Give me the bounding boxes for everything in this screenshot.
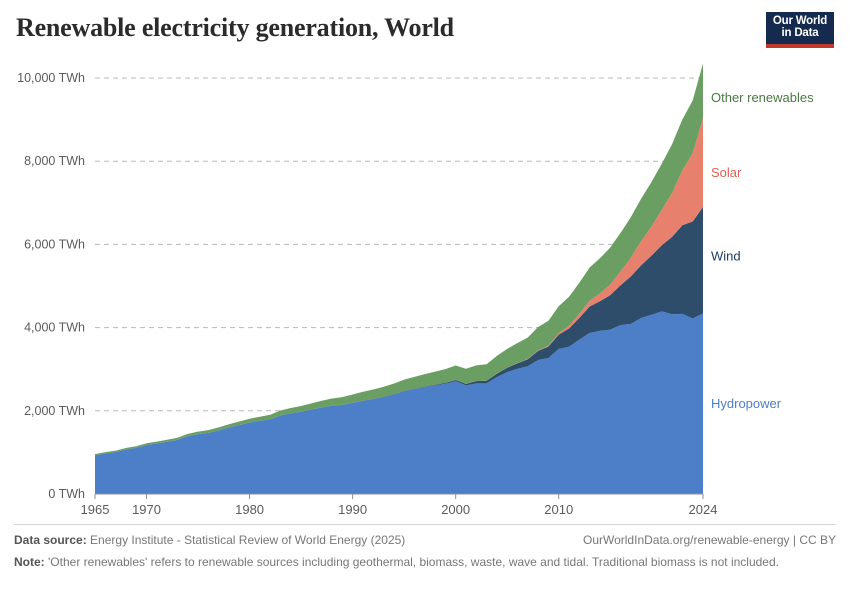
series-label-layer[interactable]: Other renewablesSolarWindHydropower <box>711 90 814 411</box>
x-axis-tick-label: 1965 <box>81 502 110 517</box>
x-axis-tick-label: 2000 <box>441 502 470 517</box>
note-text: 'Other renewables' refers to renewable s… <box>48 555 779 569</box>
chart-header: Renewable electricity generation, World … <box>0 0 850 62</box>
x-axis-tick-label: 1970 <box>132 502 161 517</box>
x-axis-tick-label: 2024 <box>689 502 718 517</box>
y-axis-tick-label: 6,000 TWh <box>24 237 85 251</box>
data-source: Data source: Energy Institute - Statisti… <box>14 533 405 547</box>
series-label-hydropower[interactable]: Hydropower <box>711 396 782 411</box>
stacked-area-chart[interactable]: 0 TWh2,000 TWh4,000 TWh6,000 TWh8,000 TW… <box>0 62 850 524</box>
x-axis-tick-label: 1980 <box>235 502 264 517</box>
area-layer[interactable] <box>95 63 703 494</box>
chart-plot-area[interactable]: 0 TWh2,000 TWh4,000 TWh6,000 TWh8,000 TW… <box>0 62 850 524</box>
y-axis-tick-label: 0 TWh <box>48 487 85 501</box>
chart-note: Note: 'Other renewables' refers to renew… <box>14 554 814 571</box>
note-label: Note: <box>14 555 45 569</box>
chart-footer: Data source: Energy Institute - Statisti… <box>0 524 850 600</box>
series-label-solar[interactable]: Solar <box>711 165 742 180</box>
x-axis-tick-label: 1990 <box>338 502 367 517</box>
data-source-label: Data source: <box>14 533 87 547</box>
y-axis-tick-label: 8,000 TWh <box>24 154 85 168</box>
owid-chart-page: Renewable electricity generation, World … <box>0 0 850 600</box>
series-label-other-renewables[interactable]: Other renewables <box>711 90 814 105</box>
y-axis-tick-label: 2,000 TWh <box>24 404 85 418</box>
y-axis-tick-label: 10,000 TWh <box>17 71 85 85</box>
attribution-link[interactable]: OurWorldInData.org/renewable-energy | CC… <box>583 533 836 547</box>
logo-line-2: in Data <box>782 28 819 40</box>
footer-divider <box>14 524 836 525</box>
page-title: Renewable electricity generation, World <box>16 13 454 43</box>
area-series-hydropower[interactable] <box>95 311 703 494</box>
data-source-text: Energy Institute - Statistical Review of… <box>90 533 405 547</box>
series-label-wind[interactable]: Wind <box>711 248 741 263</box>
owid-logo[interactable]: Our World in Data <box>766 12 834 48</box>
x-axis-tick-label: 2010 <box>544 502 573 517</box>
y-axis-tick-label: 4,000 TWh <box>24 321 85 335</box>
